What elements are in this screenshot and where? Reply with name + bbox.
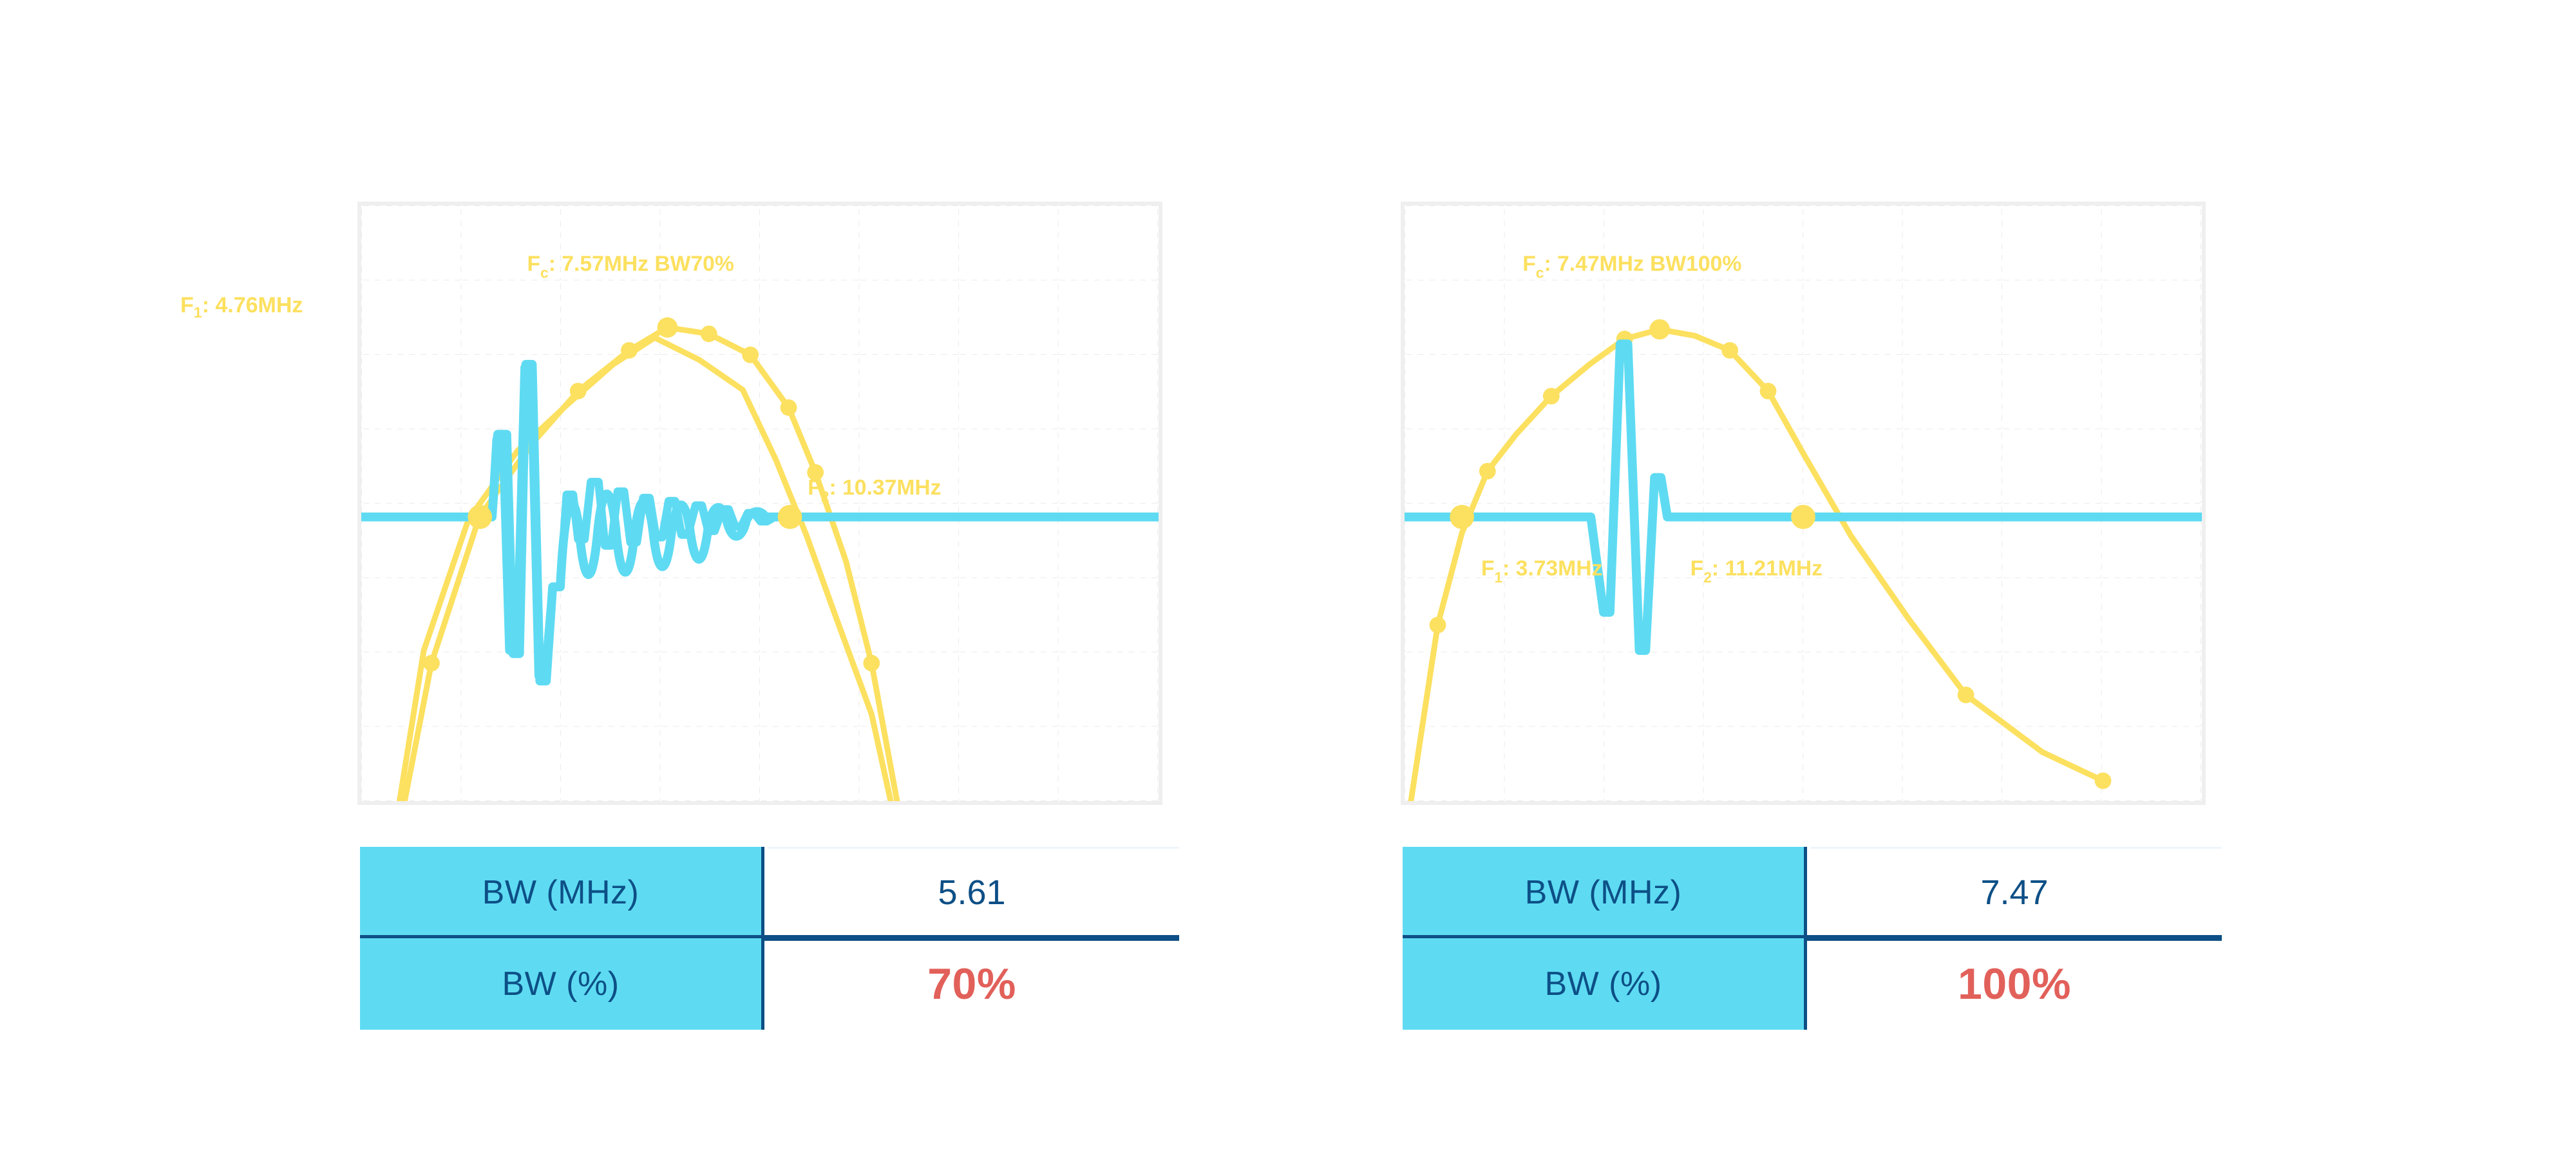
- spectrum-point-right: [2095, 773, 2112, 790]
- chart-right: Fc: 7.47MHz BW100% F1: 3.73MHz F2: 11.21…: [1405, 205, 2202, 801]
- marker-f2-right: [1791, 505, 1815, 529]
- spectrum-point-left: [621, 342, 638, 359]
- bw-mhz-value: 5.61: [938, 873, 1005, 913]
- table-label-bw-mhz: BW (MHz): [1403, 847, 1807, 938]
- marker-f1-right: [1450, 505, 1474, 529]
- table-label-bw-mhz: BW (MHz): [360, 847, 764, 938]
- spectrum-point-right: [1760, 383, 1777, 399]
- table-value-cell: 70%: [764, 938, 1179, 1030]
- panel-right: Fc: 7.47MHz BW100% F1: 3.73MHz F2: 11.21…: [1288, 0, 2576, 1154]
- table-label-bw-pct: BW (%): [360, 938, 764, 1030]
- spectrum-point-fc-right: [1649, 319, 1670, 340]
- spectrum-point-fc-left: [658, 317, 678, 338]
- bw-table-left: BW (MHz) 5.61 BW (%) 70%: [360, 847, 1179, 1030]
- chart-frame-right: Fc: 7.47MHz BW100% F1: 3.73MHz F2: 11.21…: [1401, 202, 2206, 805]
- spectrum-point-right: [1479, 463, 1496, 480]
- chart-frame-left: Fc: 7.57MHz BW70% F1: 4.76MHz F2: 10.37M…: [357, 202, 1162, 805]
- label-f1-left-outer: F1: 4.76MHz: [180, 293, 303, 321]
- spectrum-point-right: [1430, 617, 1446, 634]
- spectrum-point-left: [423, 655, 440, 672]
- table-row: BW (%) 100%: [1403, 938, 2222, 1030]
- spectrum-point-right: [1721, 342, 1738, 359]
- table-value-cell: 5.61: [764, 847, 1179, 938]
- bw-pct-value: 100%: [1958, 959, 2071, 1009]
- spectrum-point-left: [701, 326, 717, 343]
- bw-pct-value: 70%: [927, 959, 1016, 1009]
- table-label-bw-pct: BW (%): [1403, 938, 1807, 1030]
- spectrum-point-left: [742, 346, 759, 363]
- bw-mhz-value: 7.47: [1980, 873, 2048, 913]
- chart-left: Fc: 7.57MHz BW70% F1: 4.76MHz F2: 10.37M…: [361, 205, 1159, 801]
- table-value-cell: 100%: [1807, 938, 2222, 1030]
- spectrum-point-left: [781, 399, 797, 416]
- marker-f2-left: [778, 505, 802, 529]
- spectrum-point-left: [863, 655, 880, 672]
- spectrum-point-right: [1543, 388, 1560, 404]
- spectrum-point-right: [1958, 686, 1975, 703]
- table-value-cell: 7.47: [1807, 847, 2222, 938]
- bw-table-right: BW (MHz) 7.47 BW (%) 100%: [1403, 847, 2222, 1030]
- table-row: BW (%) 70%: [360, 938, 1179, 1030]
- panel-left: Fc: 7.57MHz BW70% F1: 4.76MHz F2: 10.37M…: [0, 0, 1288, 1154]
- marker-f1-left: [468, 505, 492, 529]
- table-row: BW (MHz) 7.47: [1403, 847, 2222, 938]
- table-row: BW (MHz) 5.61: [360, 847, 1179, 938]
- spectrum-point-left: [570, 383, 587, 399]
- chart-grid-right: [1405, 205, 2202, 801]
